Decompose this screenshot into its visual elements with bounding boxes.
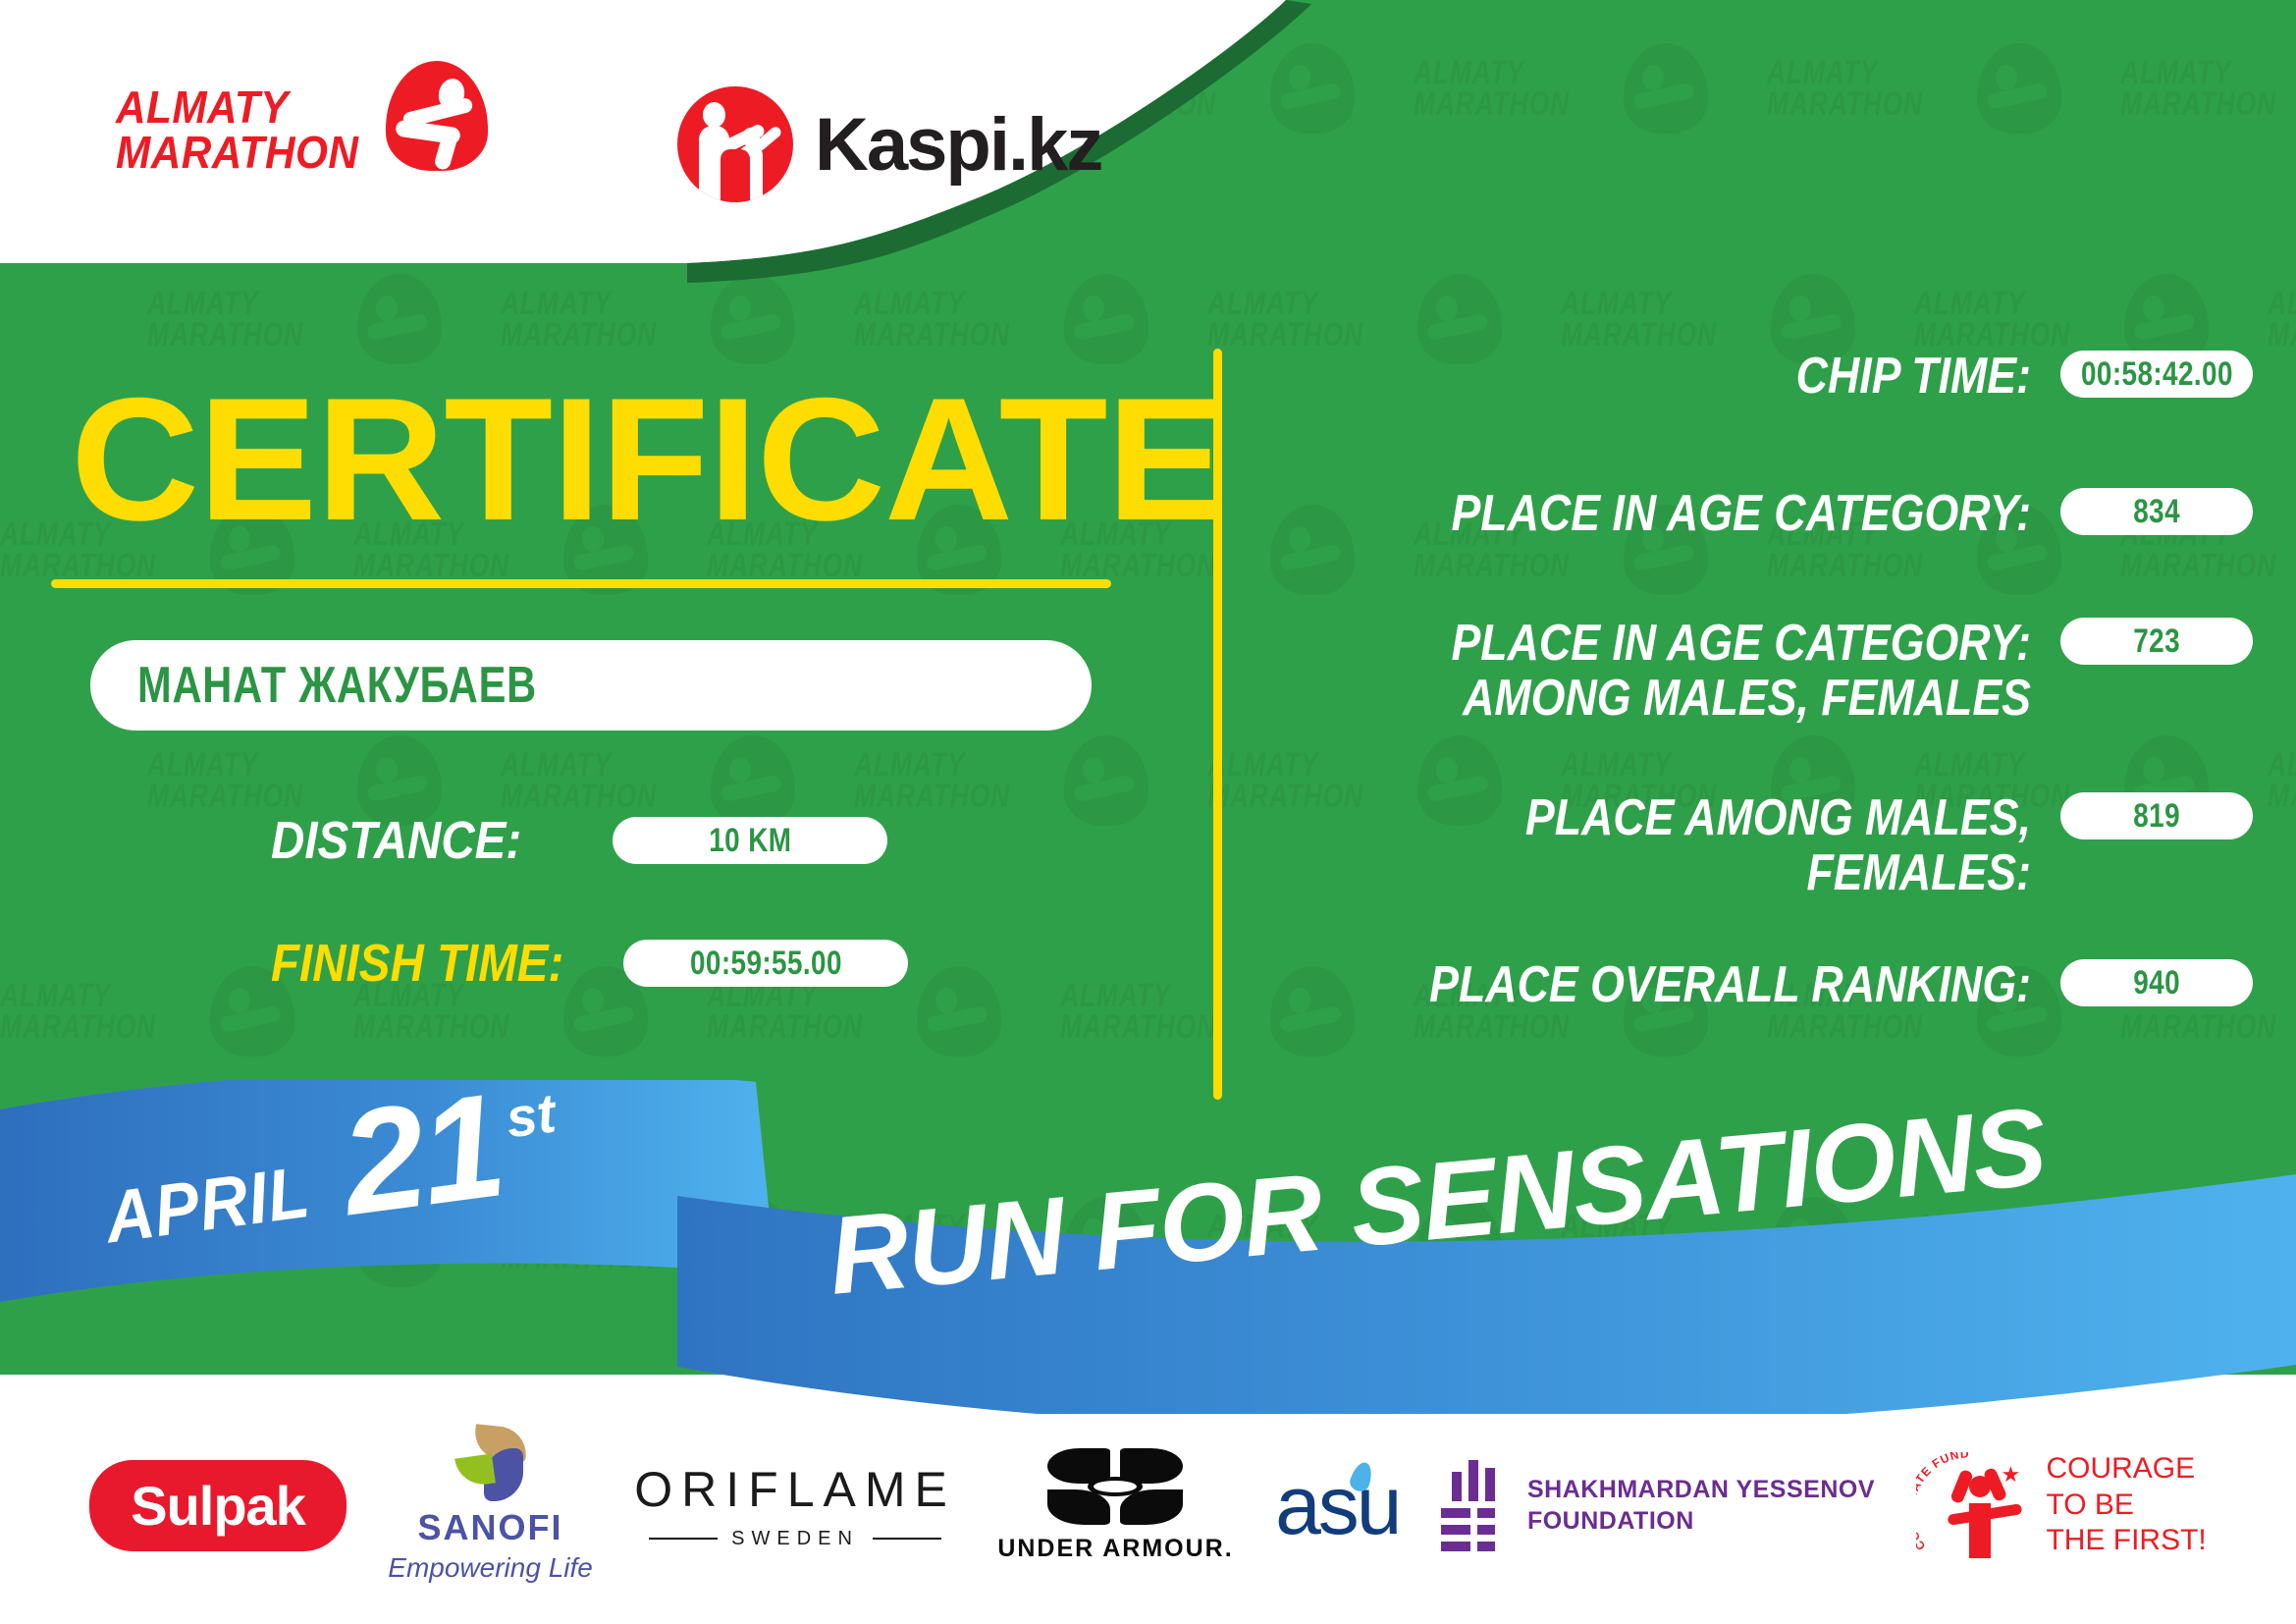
watermark-tile: ALMATYMARATHON	[2268, 231, 2296, 407]
sanofi-tagline: Empowering Life	[388, 1552, 593, 1584]
stat-row-place-age-category: PLACE IN AGE CATEGORY: 834	[1261, 486, 2253, 541]
place-age-category-among-value-pill: 723	[2060, 618, 2253, 665]
ua-center-oval	[1088, 1477, 1143, 1496]
oriflame-text: ORIFLAME	[634, 1461, 956, 1518]
sponsor-logo-asu: asu	[1275, 1458, 1399, 1553]
sponsor-bar: Sulpak SANOFI Empowering Life ORIFLAME S…	[0, 1386, 2296, 1624]
watermark-text: ALMATYMARATHON	[147, 288, 303, 352]
courage-figure-icon: ★	[1955, 1462, 2024, 1560]
watermark-text: ALMATYMARATHON	[501, 288, 657, 352]
stat-row-place-age-category-among: PLACE IN AGE CATEGORY: AMONG MALES, FEMA…	[1261, 616, 2253, 726]
place-among-males-females-label: PLACE AMONG MALES, FEMALES:	[1369, 790, 2031, 900]
place-age-category-value: 834	[2133, 493, 2180, 531]
place-age-category-among-label: PLACE IN AGE CATEGORY: AMONG MALES, FEMA…	[1369, 616, 2031, 726]
participant-name-field: МАНАТ ЖАКУБАЕВ	[90, 640, 1092, 731]
watermark-text: ALMATYMARATHON	[2268, 288, 2296, 352]
sanofi-mark-green	[454, 1454, 496, 1489]
watermark-text: ALMATYMARATHON	[854, 288, 1010, 352]
oriflame-rule-left	[649, 1538, 718, 1540]
chip-time-label: CHIP TIME:	[1369, 349, 2031, 404]
finish-time-value: 00:59:55.00	[690, 945, 842, 983]
sanofi-mark-icon	[449, 1427, 533, 1501]
stat-row-place-among-males-females: PLACE AMONG MALES, FEMALES: 819	[1261, 790, 2253, 900]
watermark-text: ALMATYMARATHON	[0, 980, 156, 1044]
courage-emblem-icon: CORPORATE FUND ★	[1916, 1444, 2032, 1566]
watermark-tile: ALMATYMARATHON	[1767, 0, 2061, 177]
sponsor-logo-sanofi: SANOFI Empowering Life	[388, 1427, 593, 1584]
courage-line2: TO BE	[2046, 1488, 2206, 1524]
courage-text: COURAGE TO BE THE FIRST!	[2046, 1451, 2206, 1559]
watermark-text: ALMATYMARATHON	[1914, 288, 2070, 352]
finish-time-value-pill: 00:59:55.00	[623, 940, 908, 987]
event-day: 21	[336, 1082, 508, 1226]
place-age-category-among-value: 723	[2133, 623, 2180, 661]
place-age-category-value-pill: 834	[2060, 488, 2253, 535]
yessenov-bars	[1441, 1460, 1506, 1501]
yessenov-rows	[1441, 1508, 1506, 1551]
finish-time-row: FINISH TIME: 00:59:55.00	[271, 933, 908, 994]
watermark-tile: ALMATYMARATHON	[2268, 692, 2296, 869]
kaspi-center-slot	[721, 149, 750, 202]
header-logos: ALMATY MARATHON Kaspi.kz	[0, 0, 1178, 275]
sponsor-logo-oriflame: ORIFLAME SWEDEN	[634, 1461, 956, 1550]
under-armour-text: UNDER ARMOUR.	[997, 1535, 1233, 1563]
stat-row-chip-time: CHIP TIME: 00:58:42.00	[1261, 349, 2253, 404]
title-underline-rule	[51, 579, 1111, 588]
page-title: CERTIFICATE	[71, 381, 1225, 538]
watermark-text: ALMATYMARATHON	[2268, 749, 2296, 813]
place-overall-ranking-label: PLACE OVERALL RANKING:	[1369, 957, 2031, 1012]
place-age-category-label: PLACE IN AGE CATEGORY:	[1369, 486, 2031, 541]
kaspi-kid-head	[742, 128, 760, 147]
asu-drop-icon	[1348, 1459, 1375, 1493]
watermark-text: ALMATYMARATHON	[854, 749, 1010, 813]
under-armour-icon	[1047, 1448, 1183, 1525]
almaty-marathon-line2: MARATHON	[116, 130, 358, 175]
stat-row-place-overall-ranking: PLACE OVERALL RANKING: 940	[1261, 957, 2253, 1012]
sulpak-pill: Sulpak	[89, 1460, 347, 1551]
distance-label: DISTANCE:	[271, 810, 521, 871]
event-day-suffix: st	[503, 1080, 560, 1150]
watermark-drop-icon	[1064, 735, 1148, 826]
distance-value: 10 KM	[709, 822, 791, 860]
place-among-males-females-value-pill: 819	[2060, 792, 2253, 839]
courage-star-icon: ★	[2001, 1464, 2020, 1486]
watermark-text: ALMATYMARATHON	[501, 749, 657, 813]
kaspi-adult-head	[703, 102, 725, 128]
place-overall-ranking-value-pill: 940	[2060, 959, 2253, 1006]
chip-time-value-pill: 00:58:42.00	[2060, 351, 2253, 398]
almaty-marathon-line1: ALMATY	[116, 84, 358, 130]
certificate-page: ALMATYMARATHONALMATYMARATHONALMATYMARATH…	[0, 0, 2296, 1624]
place-among-males-females-value: 819	[2133, 797, 2180, 836]
watermark-tile: ALMATYMARATHON	[0, 923, 294, 1100]
watermark-drop-icon	[1624, 43, 1708, 134]
watermark-text: ALMATYMARATHON	[2120, 57, 2276, 121]
kaspi-logo: Kaspi.kz	[677, 86, 1101, 202]
watermark-tile: ALMATYMARATHON	[2120, 0, 2296, 177]
sponsor-logo-yessenov-foundation: SHAKHMARDAN YESSENOV FOUNDATION	[1441, 1460, 1875, 1551]
kaspi-people-icon	[677, 86, 793, 202]
runner-drop-icon	[386, 61, 488, 171]
watermark-text: ALMATYMARATHON	[1561, 288, 1717, 352]
watermark-text: ALMATYMARATHON	[1060, 980, 1216, 1044]
vertical-divider	[1213, 349, 1222, 1100]
sponsor-logo-under-armour: UNDER ARMOUR.	[997, 1448, 1233, 1563]
watermark-text: ALMATYMARATHON	[147, 749, 303, 813]
watermark-text: ALMATYMARATHON	[1207, 288, 1363, 352]
distance-value-pill: 10 KM	[613, 817, 887, 864]
participant-name-value: МАНАТ ЖАКУБАЕВ	[137, 656, 537, 715]
courage-line3: THE FIRST!	[2046, 1523, 2206, 1559]
yessenov-mark-icon	[1441, 1460, 1506, 1551]
chip-time-value: 00:58:42.00	[2081, 355, 2233, 394]
oriflame-tagline-row: SWEDEN	[649, 1528, 941, 1550]
finish-time-label: FINISH TIME:	[271, 933, 563, 994]
almaty-marathon-logo: ALMATY MARATHON	[116, 61, 488, 175]
sanofi-text: SANOFI	[418, 1507, 563, 1548]
courage-line1: COURAGE	[2046, 1451, 2206, 1488]
results-column: CHIP TIME: 00:58:42.00 PLACE IN AGE CATE…	[1261, 349, 2253, 1105]
watermark-tile: ALMATYMARATHON	[1414, 0, 1708, 177]
watermark-drop-icon	[1977, 43, 2061, 134]
kaspi-logo-text: Kaspi.kz	[815, 102, 1101, 188]
oriflame-rule-right	[873, 1538, 941, 1540]
courage-head	[1969, 1476, 1991, 1497]
watermark-text: ALMATYMARATHON	[1767, 57, 1923, 121]
watermark-drop-icon	[917, 966, 1001, 1056]
sponsor-logo-courage-to-be-the-first: CORPORATE FUND ★ COURAGE TO BE THE FIRST…	[1916, 1444, 2206, 1566]
yessenov-text: SHAKHMARDAN YESSENOV FOUNDATION	[1527, 1474, 1875, 1537]
distance-row: DISTANCE: 10 KM	[271, 810, 887, 871]
almaty-marathon-logo-text: ALMATY MARATHON	[116, 84, 358, 175]
yessenov-line1: SHAKHMARDAN YESSENOV	[1527, 1474, 1875, 1505]
oriflame-tagline: SWEDEN	[731, 1528, 859, 1550]
place-overall-ranking-value: 940	[2133, 964, 2180, 1002]
asu-text: asu	[1275, 1458, 1399, 1553]
sulpak-text: Sulpak	[131, 1475, 305, 1537]
sponsor-logo-sulpak: Sulpak	[89, 1460, 347, 1551]
watermark-text: ALMATYMARATHON	[1414, 57, 1570, 121]
yessenov-line2: FOUNDATION	[1527, 1505, 1875, 1537]
